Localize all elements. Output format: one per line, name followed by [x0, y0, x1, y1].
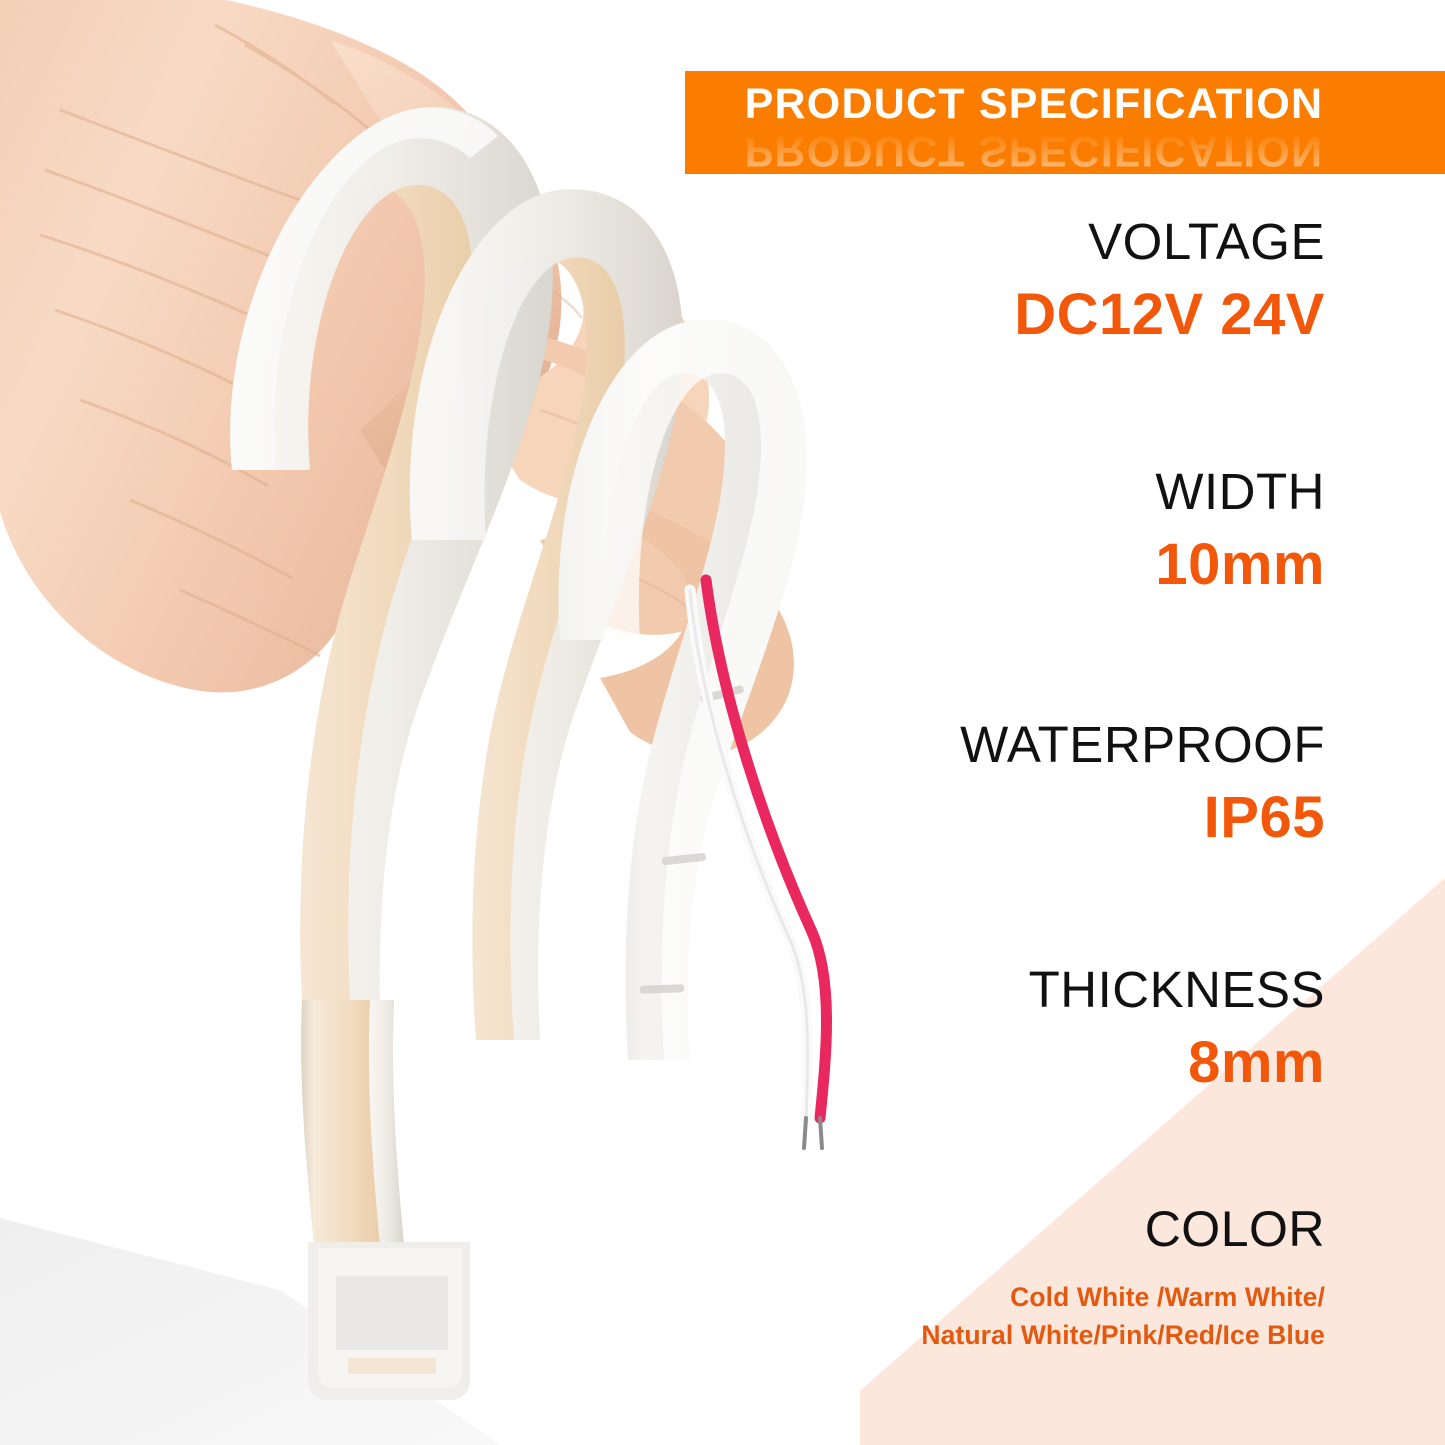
spec-label-thickness: THICKNESS [1029, 963, 1325, 1017]
spec-item-color: COLOR Cold White /Warm White/ Natural Wh… [921, 1203, 1325, 1354]
spec-value-voltage: DC12V 24V [1014, 285, 1325, 346]
color-value-line-1: Cold White /Warm White/ [921, 1278, 1325, 1316]
spec-value-width: 10mm [1155, 535, 1325, 596]
color-value-line-2: Natural White/Pink/Red/Ice Blue [921, 1316, 1325, 1354]
spec-item-width: WIDTH 10mm [1155, 465, 1325, 595]
product-spec-page: PRODUCT SPECIFICATION PRODUCT SPECIFICAT… [0, 0, 1445, 1445]
spec-item-waterproof: WATERPROOF IP65 [960, 718, 1325, 848]
spec-label-width: WIDTH [1155, 465, 1325, 519]
spec-item-thickness: THICKNESS 8mm [1029, 963, 1325, 1093]
spec-value-color: Cold White /Warm White/ Natural White/Pi… [921, 1278, 1325, 1355]
spec-value-waterproof: IP65 [960, 788, 1325, 849]
spec-label-color: COLOR [921, 1203, 1325, 1256]
silicone-end-cap [308, 1242, 470, 1400]
spec-value-thickness: 8mm [1029, 1033, 1325, 1094]
banner-title-reflection: PRODUCT SPECIFICATION [685, 129, 1383, 172]
banner-title: PRODUCT SPECIFICATION [685, 83, 1383, 126]
spec-label-waterproof: WATERPROOF [960, 718, 1325, 772]
product-specification-banner: PRODUCT SPECIFICATION PRODUCT SPECIFICAT… [685, 71, 1445, 174]
spec-item-voltage: VOLTAGE DC12V 24V [1014, 215, 1325, 345]
specification-column: PRODUCT SPECIFICATION PRODUCT SPECIFICAT… [685, 0, 1445, 1445]
spec-label-voltage: VOLTAGE [1014, 215, 1325, 269]
